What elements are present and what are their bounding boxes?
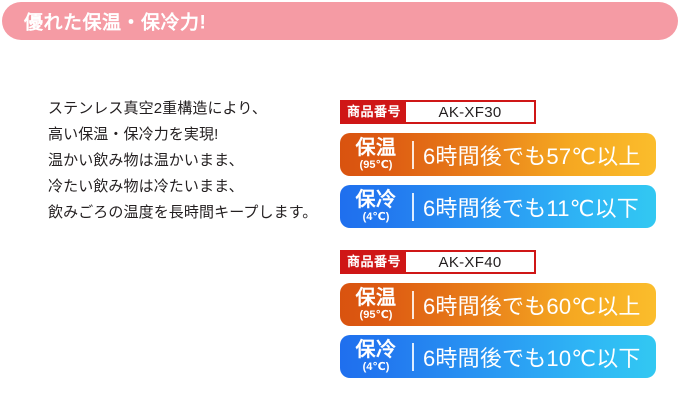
cold-retention-value: 6時間後でも11℃以下	[423, 191, 656, 223]
description-line: 飲みごろの温度を長時間キープします。	[48, 200, 333, 226]
badge-divider	[412, 291, 414, 319]
description-text-block: ステンレス真空2重構造により、 高い保温・保冷力を実現! 温かい飲み物は温かいま…	[48, 96, 333, 226]
heat-retention-badge-temp: (95℃)	[360, 310, 393, 321]
product-number-value: AK-XF30	[406, 102, 534, 122]
cold-retention-badge-title: 保冷	[356, 190, 397, 210]
heat-retention-badge-temp: (95℃)	[360, 160, 393, 171]
heat-retention-badge: 保温 (95℃)	[340, 138, 412, 171]
badge-divider	[412, 141, 414, 169]
product-number-value: AK-XF40	[406, 252, 534, 272]
description-line: 温かい飲み物は温かいまま、	[48, 148, 333, 174]
heat-retention-value: 6時間後でも57℃以上	[423, 139, 656, 171]
cold-retention-badge-temp: (4℃)	[363, 212, 390, 223]
cold-retention-bar: 保冷 (4℃) 6時間後でも11℃以下	[340, 185, 656, 228]
heat-retention-badge-title: 保温	[356, 138, 397, 158]
cold-retention-bar: 保冷 (4℃) 6時間後でも10℃以下	[340, 335, 656, 378]
product-block: 商品番号 AK-XF30 保温 (95℃) 6時間後でも57℃以上 保冷 (4℃…	[340, 100, 656, 228]
cold-retention-badge-temp: (4℃)	[363, 362, 390, 373]
description-line: 高い保温・保冷力を実現!	[48, 122, 333, 148]
description-line: ステンレス真空2重構造により、	[48, 96, 333, 122]
heat-retention-bar: 保温 (95℃) 6時間後でも57℃以上	[340, 133, 656, 176]
badge-divider	[412, 343, 414, 371]
cold-retention-badge: 保冷 (4℃)	[340, 190, 412, 223]
product-number-row: 商品番号 AK-XF30	[340, 100, 536, 124]
product-block: 商品番号 AK-XF40 保温 (95℃) 6時間後でも60℃以上 保冷 (4℃…	[340, 250, 656, 378]
description-line: 冷たい飲み物は冷たいまま、	[48, 174, 333, 200]
cold-retention-value: 6時間後でも10℃以下	[423, 341, 656, 373]
product-number-label: 商品番号	[342, 102, 406, 122]
section-header-banner: 優れた保温・保冷力!	[2, 2, 678, 40]
heat-retention-badge: 保温 (95℃)	[340, 288, 412, 321]
product-number-row: 商品番号 AK-XF40	[340, 250, 536, 274]
product-spec-list: 商品番号 AK-XF30 保温 (95℃) 6時間後でも57℃以上 保冷 (4℃…	[340, 100, 656, 378]
heat-retention-bar: 保温 (95℃) 6時間後でも60℃以上	[340, 283, 656, 326]
badge-divider	[412, 193, 414, 221]
product-number-label: 商品番号	[342, 252, 406, 272]
cold-retention-badge-title: 保冷	[356, 340, 397, 360]
heat-retention-value: 6時間後でも60℃以上	[423, 289, 656, 321]
heat-retention-badge-title: 保温	[356, 288, 397, 308]
page-title: 優れた保温・保冷力!	[24, 8, 206, 35]
cold-retention-badge: 保冷 (4℃)	[340, 340, 412, 373]
